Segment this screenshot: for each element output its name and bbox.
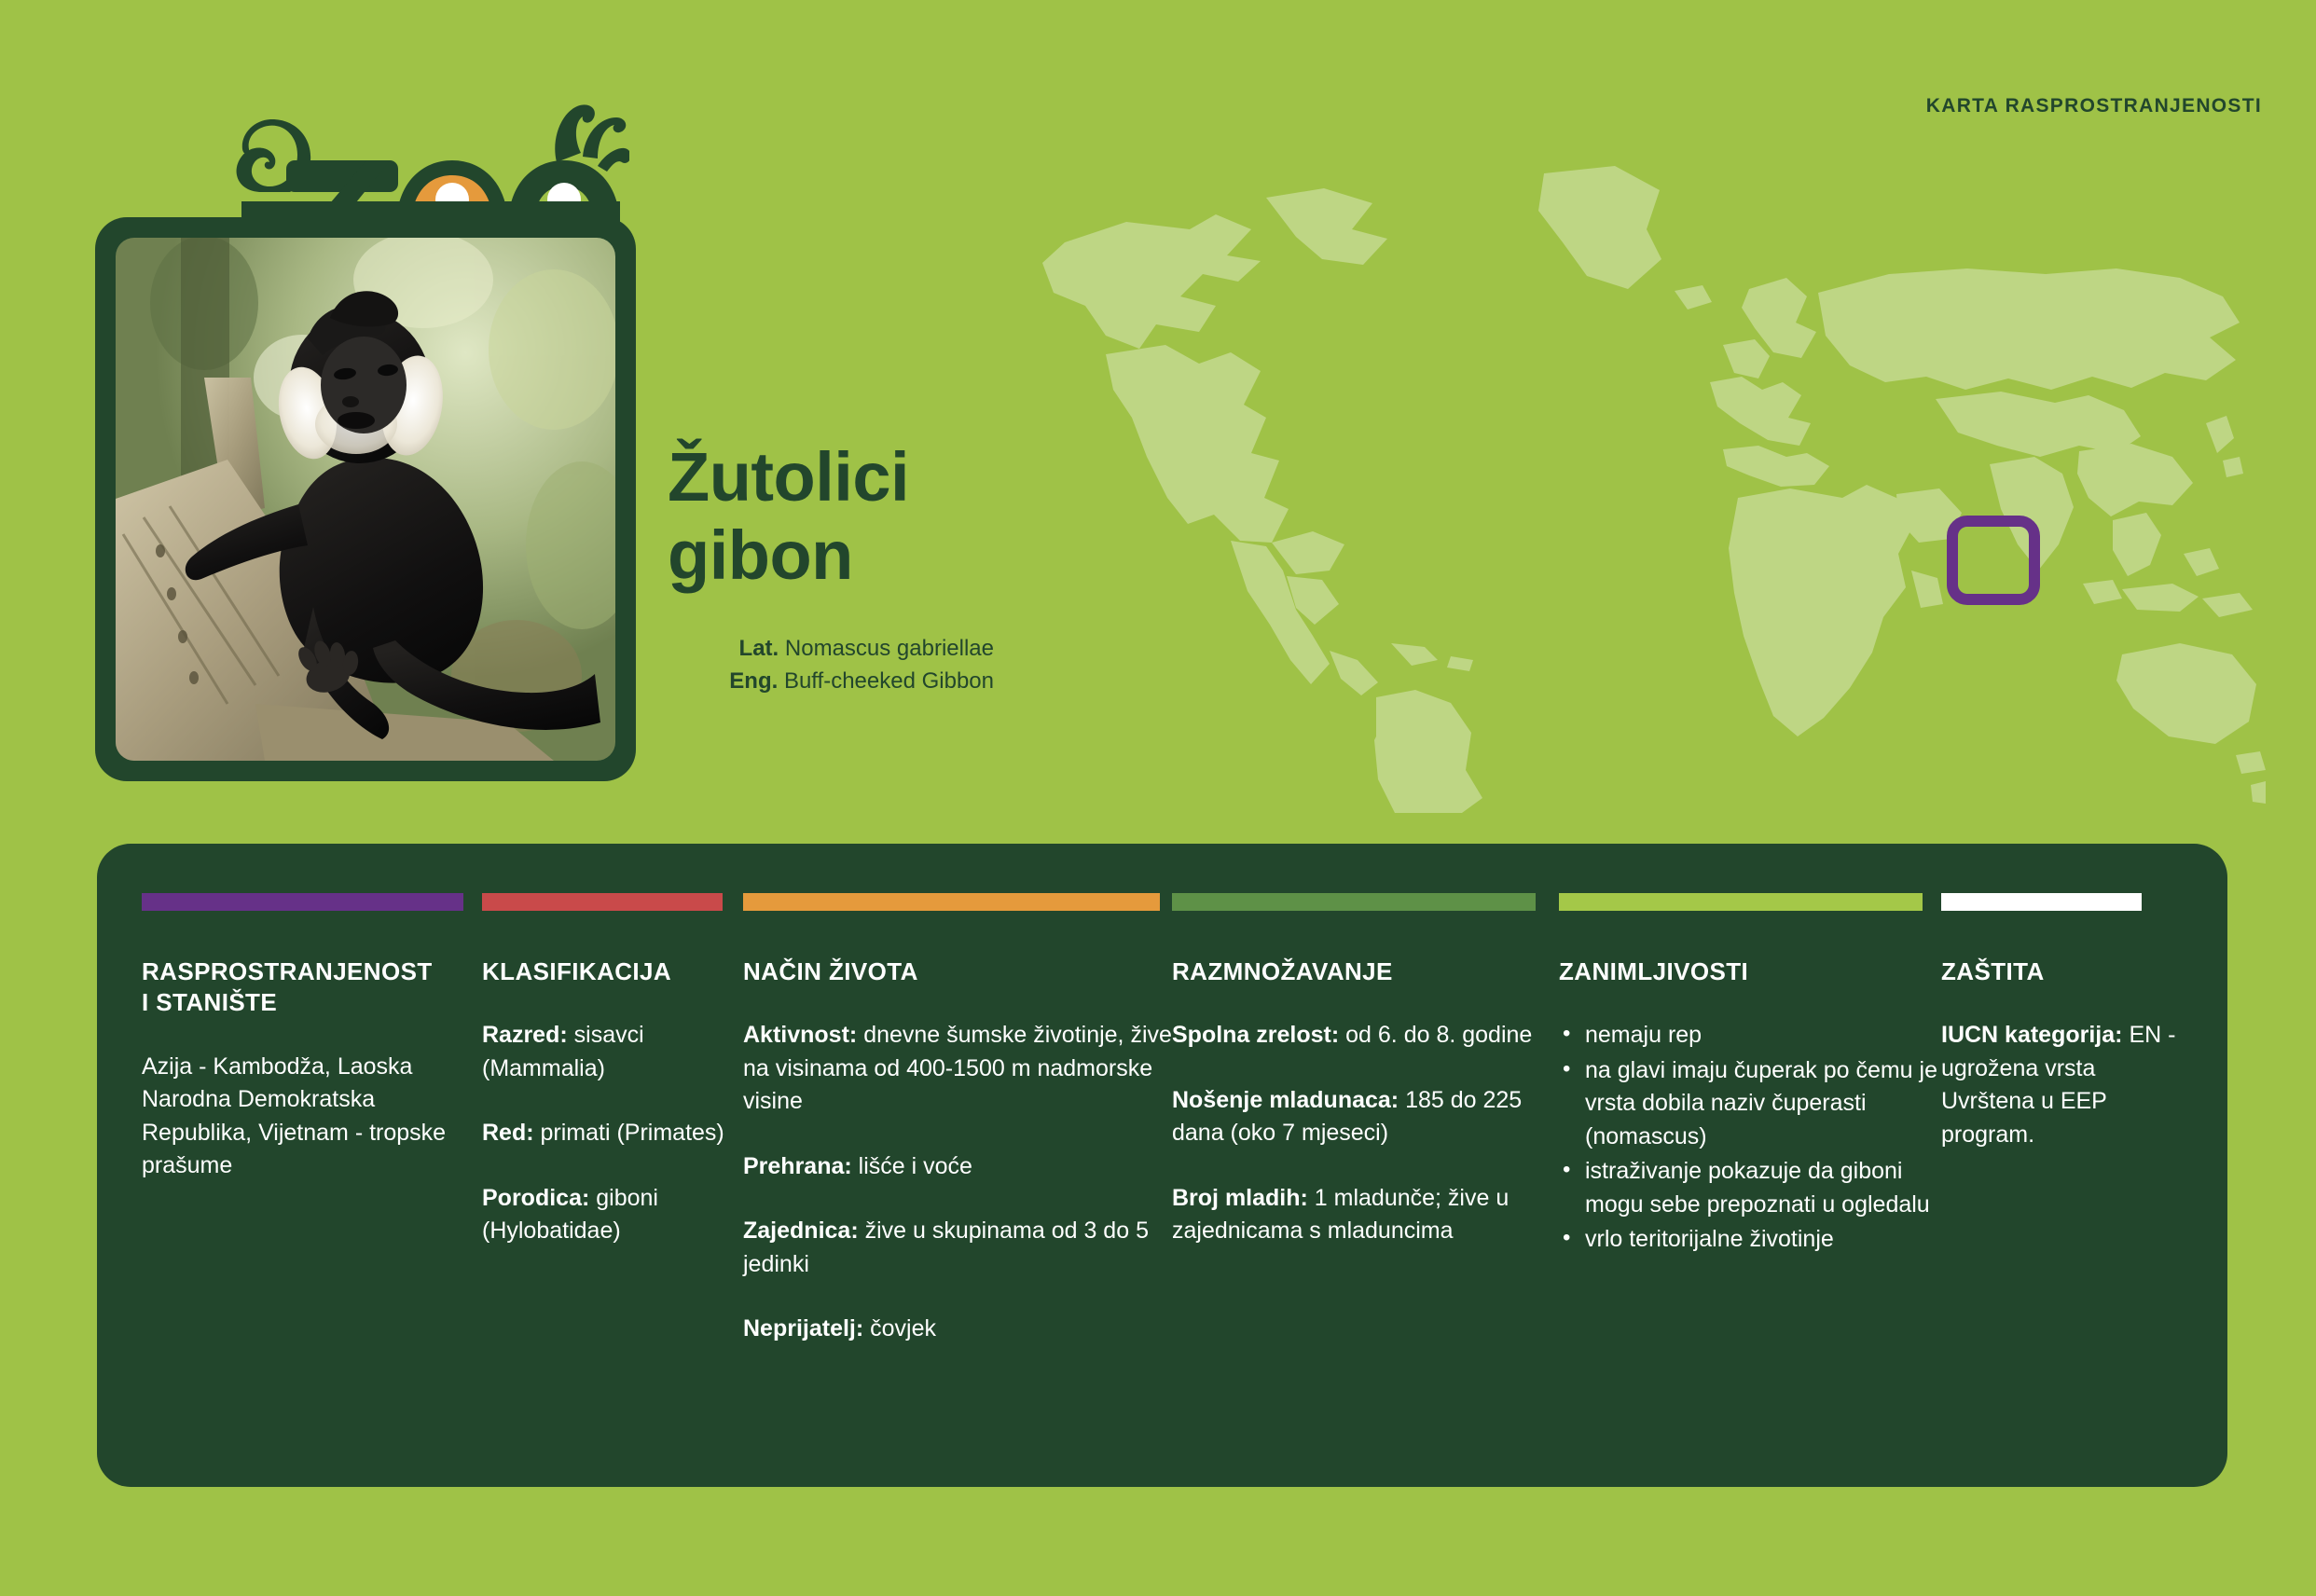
list-item: nemaju rep bbox=[1559, 1019, 1941, 1053]
latin-name-value: Nomascus gabriellae bbox=[785, 636, 994, 661]
column-body-razmnozavanje: Spolna zrelost: od 6. do 8. godine Nošen… bbox=[1172, 1019, 1559, 1248]
spolna-zrelost-value: od 6. do 8. godine bbox=[1345, 1022, 1532, 1048]
world-map bbox=[1016, 132, 2266, 813]
neprijatelj-value: čovjek bbox=[870, 1315, 936, 1341]
column-title-zanimljivosti: ZANIMLJIVOSTI bbox=[1559, 956, 1941, 987]
spolna-zrelost-label: Spolna zrelost: bbox=[1172, 1022, 1339, 1048]
red-label: Red: bbox=[482, 1120, 534, 1146]
list-item: istraživanje pokazuje da giboni mogu seb… bbox=[1559, 1155, 1941, 1221]
info-columns: RASPROSTRANJENOST I STANIŠTE Azija - Kam… bbox=[97, 844, 2227, 1487]
red-value: primati (Primates) bbox=[541, 1120, 724, 1146]
iucn-entry: IUCN kategorija: EN - ugrožena vrsta Uvr… bbox=[1941, 1019, 2179, 1151]
range-highlight-box bbox=[1947, 516, 2040, 605]
page-title: Žutolici gibon bbox=[668, 438, 1115, 596]
habitat-value: Azija - Kambodža, Laoska Narodna Demokra… bbox=[142, 1053, 446, 1179]
prehrana-label: Prehrana: bbox=[743, 1153, 852, 1179]
iucn-label: IUCN kategorija: bbox=[1941, 1022, 2122, 1048]
distribution-map-section: KARTA RASPROSTRANJENOSTI bbox=[1016, 65, 2266, 820]
map-heading: KARTA RASPROSTRANJENOSTI bbox=[1926, 95, 2262, 117]
column-title-zastita: ZAŠTITA bbox=[1941, 956, 2179, 987]
info-column-rasprostranjenost: RASPROSTRANJENOST I STANIŠTE Azija - Kam… bbox=[142, 893, 482, 1487]
column-body-klasifikacija: Razred: sisavci (Mammalia) Red: primati … bbox=[482, 1019, 743, 1248]
info-column-razmnozavanje: RAZMNOŽAVANJE Spolna zrelost: od 6. do 8… bbox=[1172, 893, 1559, 1487]
info-column-nacin-zivota: NAČIN ŽIVOTA Aktivnost: dnevne šumske ži… bbox=[743, 893, 1172, 1487]
repro-entry-nosenje: Nošenje mladunaca: 185 do 225 dana (oko … bbox=[1172, 1084, 1559, 1150]
info-column-zanimljivosti: ZANIMLJIVOSTI nemaju rep na glavi imaju … bbox=[1559, 893, 1941, 1487]
info-column-klasifikacija: KLASIFIKACIJA Razred: sisavci (Mammalia)… bbox=[482, 893, 743, 1487]
latin-name-row: Lat. Nomascus gabriellae bbox=[668, 633, 994, 666]
species-photo-frame bbox=[95, 217, 636, 781]
lifestyle-entry-zajednica: Zajednica: žive u skupinama od 3 do 5 je… bbox=[743, 1215, 1172, 1281]
column-title-klasifikacija: KLASIFIKACIJA bbox=[482, 956, 743, 987]
list-item: vrlo teritorijalne životinje bbox=[1559, 1223, 1941, 1257]
habitat-entry: Azija - Kambodža, Laoska Narodna Demokra… bbox=[142, 1051, 482, 1183]
zoo-logo bbox=[228, 82, 629, 227]
column-title-rasprostranjenost: RASPROSTRANJENOST I STANIŠTE bbox=[142, 956, 482, 1019]
column-title-line-2: I STANIŠTE bbox=[142, 987, 482, 1018]
lifestyle-entry-prehrana: Prehrana: lišće i voće bbox=[743, 1150, 1172, 1184]
aktivnost-label: Aktivnost: bbox=[743, 1022, 857, 1048]
map-landmasses bbox=[1042, 166, 2266, 813]
english-name-label: Eng. bbox=[729, 668, 778, 694]
species-info-block: Žutolici gibon Lat. Nomascus gabriellae … bbox=[668, 438, 1115, 697]
accent-bar-orange bbox=[743, 893, 1160, 911]
latin-name-label: Lat. bbox=[739, 636, 779, 661]
species-photo bbox=[116, 238, 615, 761]
broj-mladih-label: Broj mladih: bbox=[1172, 1185, 1308, 1211]
lifestyle-entry-aktivnost: Aktivnost: dnevne šumske životinje, žive… bbox=[743, 1019, 1172, 1119]
prehrana-value: lišće i voće bbox=[859, 1153, 972, 1179]
column-body-zanimljivosti: nemaju rep na glavi imaju čuperak po čem… bbox=[1559, 1019, 1941, 1257]
zajednica-label: Zajednica: bbox=[743, 1218, 859, 1244]
accent-bar-green-light bbox=[1559, 893, 1923, 911]
repro-entry-spolna-zrelost: Spolna zrelost: od 6. do 8. godine bbox=[1172, 1019, 1559, 1053]
species-title-line-2: gibon bbox=[668, 516, 1115, 595]
column-body-rasprostranjenost: Azija - Kambodža, Laoska Narodna Demokra… bbox=[142, 1051, 482, 1183]
accent-bar-purple bbox=[142, 893, 463, 911]
accent-bar-green-dark bbox=[1172, 893, 1536, 911]
classification-entry-razred: Razred: sisavci (Mammalia) bbox=[482, 1019, 743, 1085]
info-panel: RASPROSTRANJENOST I STANIŠTE Azija - Kam… bbox=[97, 844, 2227, 1487]
column-title-razmnozavanje: RAZMNOŽAVANJE bbox=[1172, 956, 1559, 987]
razred-label: Razred: bbox=[482, 1022, 568, 1048]
porodica-label: Porodica: bbox=[482, 1185, 589, 1211]
column-body-zastita: IUCN kategorija: EN - ugrožena vrsta Uvr… bbox=[1941, 1019, 2179, 1151]
species-title-line-1: Žutolici bbox=[668, 438, 1115, 516]
column-body-nacin-zivota: Aktivnost: dnevne šumske životinje, žive… bbox=[743, 1019, 1172, 1346]
repro-entry-broj-mladih: Broj mladih: 1 mladunče; žive u zajednic… bbox=[1172, 1182, 1559, 1248]
accent-bar-red bbox=[482, 893, 723, 911]
list-item: na glavi imaju čuperak po čemu je vrsta … bbox=[1559, 1054, 1941, 1154]
info-column-zastita: ZAŠTITA IUCN kategorija: EN - ugrožena v… bbox=[1941, 893, 2179, 1487]
english-name-value: Buff-cheeked Gibbon bbox=[784, 668, 994, 694]
english-name-row: Eng. Buff-cheeked Gibbon bbox=[668, 666, 994, 698]
facts-list: nemaju rep na glavi imaju čuperak po čem… bbox=[1559, 1019, 1941, 1257]
column-title-line-1: RASPROSTRANJENOST bbox=[142, 956, 482, 987]
nosenje-label: Nošenje mladunaca: bbox=[1172, 1087, 1399, 1113]
classification-entry-porodica: Porodica: giboni (Hylobatidae) bbox=[482, 1182, 743, 1248]
neprijatelj-label: Neprijatelj: bbox=[743, 1315, 863, 1341]
accent-bar-white bbox=[1941, 893, 2142, 911]
lifestyle-entry-neprijatelj: Neprijatelj: čovjek bbox=[743, 1313, 1172, 1346]
column-title-nacin-zivota: NAČIN ŽIVOTA bbox=[743, 956, 1172, 987]
classification-entry-red: Red: primati (Primates) bbox=[482, 1117, 743, 1150]
species-names: Lat. Nomascus gabriellae Eng. Buff-cheek… bbox=[668, 633, 994, 698]
